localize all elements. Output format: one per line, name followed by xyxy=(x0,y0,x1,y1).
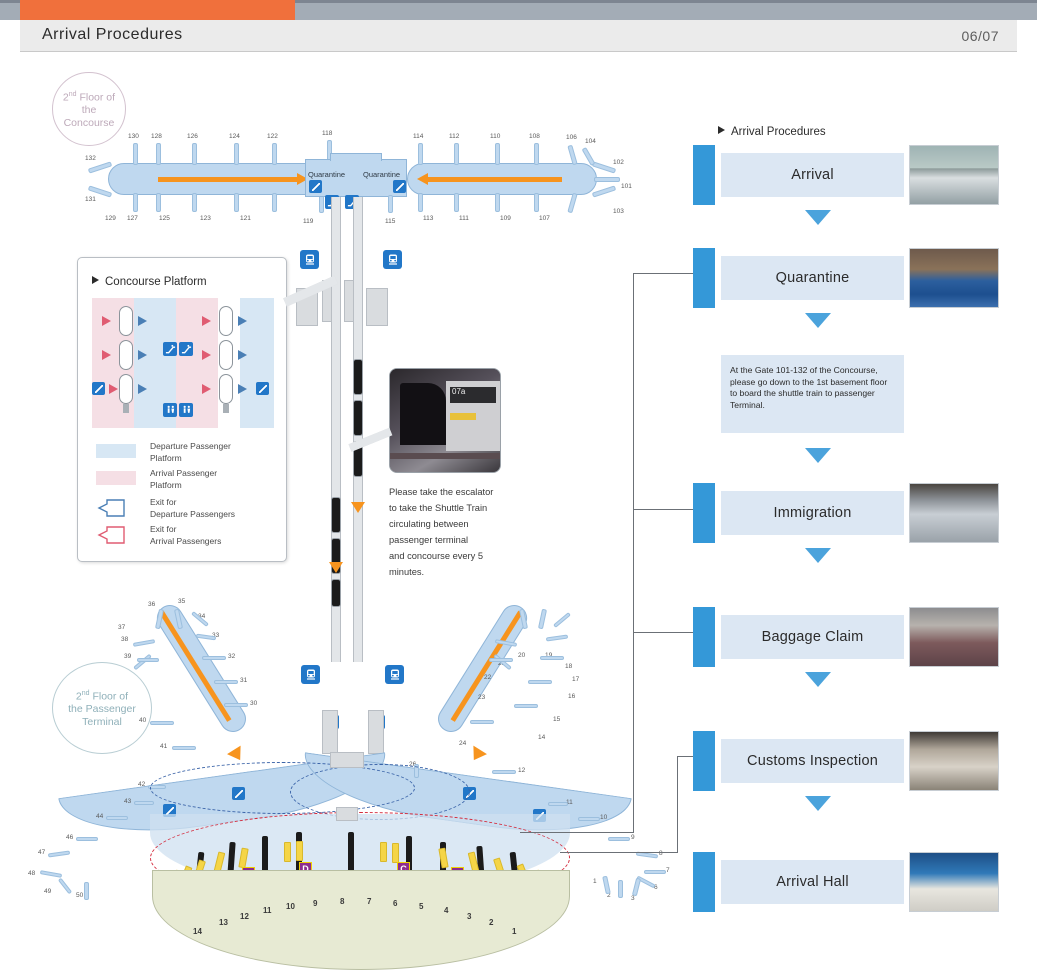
floor-label-concourse: 2nd Floor of the Concourse xyxy=(52,72,126,146)
terminal-gate-49-finger xyxy=(58,878,72,895)
floor-concourse-l3: Concourse xyxy=(64,117,115,129)
terminal-gate-32-finger xyxy=(202,656,226,660)
gate-label-108: 108 xyxy=(529,133,540,140)
concourse-gate-113-finger xyxy=(418,193,423,212)
concourse-gate-101-finger xyxy=(594,177,620,182)
train-icon-bottom-left xyxy=(301,665,320,684)
flow-step-accent-immigration xyxy=(693,483,715,543)
shuttle-train-car-6 xyxy=(331,579,341,607)
terminal-left-route-arrowhead xyxy=(227,746,247,765)
top-bar-orange-segment xyxy=(20,0,295,20)
gate-label-49: 49 xyxy=(44,888,51,895)
concourse-gate-130-finger xyxy=(133,143,138,165)
legend-departure-arrow-l2 xyxy=(138,350,147,360)
shuttle-direction-arrow-2 xyxy=(329,562,343,573)
flow-step-immigration[interactable]: Immigration xyxy=(693,483,999,543)
platform-box-lower-right xyxy=(368,710,384,754)
gate-label-130: 130 xyxy=(128,133,139,140)
terminal-gate-16-finger xyxy=(540,656,564,660)
gate-label-102: 102 xyxy=(613,159,624,166)
legend-arrival-line1: Arrival Passenger xyxy=(150,468,217,478)
gate-label-111: 111 xyxy=(459,215,469,222)
quarantine-label-right: Quarantine xyxy=(363,170,400,179)
gate-label-125: 125 xyxy=(159,215,170,222)
terminal-gate-41-finger xyxy=(172,746,196,750)
concourse-gate-119-finger xyxy=(319,195,324,213)
gate-label-40: 40 xyxy=(139,717,146,724)
flow-triangle-bullet-icon xyxy=(718,126,725,134)
carousel-label-13: 13 xyxy=(219,918,228,927)
gate-label-127: 127 xyxy=(127,215,138,222)
terminal-gate-17-finger xyxy=(546,634,568,641)
terminal-gate-12-finger xyxy=(492,770,516,774)
concourse-gate-124-finger xyxy=(234,143,239,165)
terminal-gate-38-finger xyxy=(133,639,155,647)
legend-escalator-icon-1 xyxy=(163,342,177,356)
legend-exit-dep-line2: Departure Passengers xyxy=(150,509,235,519)
flow-title: Arrival Procedures xyxy=(718,126,826,138)
concourse-gate-128-finger xyxy=(156,143,161,165)
gate-label-104: 104 xyxy=(585,138,596,145)
legend-arrival-arrow-r1 xyxy=(202,316,211,326)
gate-label-47: 47 xyxy=(38,849,45,856)
legend-swatch-departure xyxy=(96,444,136,458)
legend-exit-arr-line2: Arrival Passengers xyxy=(150,536,221,546)
concourse-gate-110-finger xyxy=(495,143,500,165)
carousel-label-11: 11 xyxy=(263,906,271,915)
terminal-gate-40-finger xyxy=(150,721,174,725)
gate-label-15: 15 xyxy=(553,716,560,723)
legend-exit-arr-line1: Exit for xyxy=(150,524,176,534)
flow-step-label-quarantine: Quarantine xyxy=(776,270,850,286)
legend-gate-left-2 xyxy=(119,340,133,370)
terminal-gate-7-finger xyxy=(644,870,666,874)
connector-quarantine-vertical xyxy=(633,273,634,833)
carousel-label-5: 5 xyxy=(419,902,423,911)
flow-step-label-arrival: Arrival xyxy=(791,167,834,183)
concourse-gate-112-finger xyxy=(454,143,459,165)
legend-departure-arrow-r3 xyxy=(238,384,247,394)
legend-restroom-icon-2 xyxy=(179,403,193,417)
floor-label-terminal: 2nd Floor of the Passenger Terminal xyxy=(52,662,152,754)
concourse-quarantine-block-top xyxy=(330,153,382,161)
legend-gate-right-1 xyxy=(219,306,233,336)
flow-step-customs-inspection[interactable]: Customs Inspection xyxy=(693,731,999,791)
flow-step-box-baggage-claim[interactable]: Baggage Claim xyxy=(721,615,904,659)
flow-arrow-2 xyxy=(805,313,831,328)
gate-label-119: 119 xyxy=(303,218,313,225)
baggage-claim-photo-image xyxy=(910,608,998,666)
flow-step-box-arrival-hall[interactable]: Arrival Hall xyxy=(721,860,904,904)
flow-arrow-1 xyxy=(805,210,831,225)
immigration-photo xyxy=(909,483,999,543)
gate-label-1: 1 xyxy=(593,878,597,885)
legend-stub-left xyxy=(123,404,129,413)
baggage-claim-belt xyxy=(152,870,570,970)
flow-arrow-6 xyxy=(805,796,831,811)
train-icon-top-right xyxy=(383,250,402,269)
concourse-gate-121-finger xyxy=(272,193,277,212)
flow-step-accent-arrival-hall xyxy=(693,852,715,912)
concourse-gate-127-finger xyxy=(156,193,161,212)
gate-label-118: 118 xyxy=(322,130,332,137)
legend-escalator-icon-2 xyxy=(179,342,193,356)
gate-label-113: 113 xyxy=(423,215,433,222)
flow-step-label-baggage-claim: Baggage Claim xyxy=(762,629,864,645)
gate-label-7: 7 xyxy=(666,867,670,874)
carousel-label-10: 10 xyxy=(286,902,295,911)
shuttle-note-line6: minutes. xyxy=(389,564,507,580)
concourse-gate-122-finger xyxy=(272,143,277,165)
legend-exit-arrow-arrival-icon xyxy=(96,525,126,545)
gate-label-39: 39 xyxy=(124,653,131,660)
gate-label-9: 9 xyxy=(631,834,635,841)
shuttle-train-car-2 xyxy=(353,400,363,436)
legend-exit-arrow-departure-icon xyxy=(96,498,126,518)
immigration-photo-image xyxy=(910,484,998,542)
flow-step-arrival[interactable]: Arrival xyxy=(693,145,999,205)
flow-step-box-arrival[interactable]: Arrival xyxy=(721,153,904,197)
legend-item-departure-label: Departure Passenger Platform xyxy=(150,441,231,464)
legend-arrival-arrow-l2 xyxy=(102,350,111,360)
gate-label-123: 123 xyxy=(200,215,211,222)
gate-label-35: 35 xyxy=(178,598,185,605)
terminal-gate-19-finger xyxy=(538,609,547,630)
concourse-platform-legend: Concourse Platform xyxy=(77,257,287,562)
terminal-gate-23-finger xyxy=(489,658,513,662)
gate-label-48: 48 xyxy=(28,870,35,877)
arrival-photo xyxy=(909,145,999,205)
gate-label-114: 114 xyxy=(413,133,423,140)
shuttle-note-line2: to take the Shuttle Train xyxy=(389,500,507,516)
concourse-gate-123-finger xyxy=(234,193,239,212)
top-accent-bar xyxy=(0,0,1037,20)
carousel-label-1: 1 xyxy=(512,927,516,936)
gate-label-32: 32 xyxy=(228,653,235,660)
cart-row-9 xyxy=(392,843,399,863)
shuttle-note-line3: circulating between xyxy=(389,516,507,532)
concourse-gate-115-finger xyxy=(388,195,393,213)
terminal-gate-11-finger xyxy=(548,802,568,806)
legend-departure-arrow-l3 xyxy=(138,384,147,394)
legend-gate-left-3 xyxy=(119,374,133,404)
connector-quarantine-stub xyxy=(633,509,693,510)
legend-arrival-arrow-r3 xyxy=(202,384,211,394)
gate-label-41: 41 xyxy=(160,743,167,750)
legend-item-exit-arrival-label: Exit for Arrival Passengers xyxy=(150,524,221,547)
terminal-gate-43-finger xyxy=(134,801,154,805)
legend-departure-arrow-r2 xyxy=(238,350,247,360)
gate-label-44: 44 xyxy=(96,813,103,820)
legend-gate-right-3 xyxy=(219,374,233,404)
gate-label-46: 46 xyxy=(66,834,73,841)
legend-departure-line1: Departure Passenger xyxy=(150,441,231,451)
terminal-gate-15-finger xyxy=(528,680,552,684)
shuttle-train-car-1 xyxy=(353,359,363,395)
flow-step-accent-quarantine xyxy=(693,248,715,308)
gate-label-3: 3 xyxy=(631,895,635,902)
gate-label-101: 101 xyxy=(621,183,632,190)
legend-exit-dep-line1: Exit for xyxy=(150,497,176,507)
concourse-gate-129-finger xyxy=(133,193,138,212)
train-icon-bottom-right xyxy=(385,665,404,684)
terminal-gate-3-finger xyxy=(632,878,641,897)
cart-row-6 xyxy=(284,842,291,862)
legend-title: Concourse Platform xyxy=(92,276,207,288)
gate-label-43: 43 xyxy=(124,798,131,805)
terminal-right-route-arrow xyxy=(451,611,523,722)
connector-customs-horizontal xyxy=(677,756,693,757)
flow-arrow-5 xyxy=(805,672,831,687)
flow-arrow-3 xyxy=(805,448,831,463)
concourse-route-arrow-left xyxy=(158,177,298,182)
concourse-gate-108-finger xyxy=(534,143,539,165)
shuttle-note-text: Please take the escalator to take the Sh… xyxy=(389,484,507,580)
arrival-photo-image xyxy=(910,146,998,204)
gate-label-128: 128 xyxy=(151,133,162,140)
concourse-gate-114-finger xyxy=(418,143,423,165)
gate-label-50: 50 xyxy=(76,892,83,899)
exit-icon-quarantine-right xyxy=(393,180,406,193)
gate-label-17: 17 xyxy=(572,676,579,683)
gate-label-115: 115 xyxy=(385,218,395,225)
shuttle-note-line1: Please take the escalator xyxy=(389,484,507,500)
carousel-label-7: 7 xyxy=(367,897,371,906)
terminal-gate-1-finger xyxy=(602,876,611,895)
shuttle-station-core xyxy=(330,752,364,768)
shuttle-station-lower xyxy=(336,807,358,821)
cart-row-8 xyxy=(380,842,387,862)
page-header: Arrival Procedures 06/07 xyxy=(20,20,1017,52)
flow-step-accent-customs-inspection xyxy=(693,731,715,791)
flow-step-accent-baggage-claim xyxy=(693,607,715,667)
legend-arrival-arrow-l1 xyxy=(102,316,111,326)
gate-label-131: 131 xyxy=(85,196,96,203)
shuttle-note-line4: passenger terminal xyxy=(389,532,507,548)
floor-terminal-l3: Terminal xyxy=(82,716,122,728)
terminal-gate-14-finger xyxy=(514,704,538,708)
legend-gate-left-1 xyxy=(119,306,133,336)
legend-departure-arrow-r1 xyxy=(238,316,247,326)
flow-step-box-immigration[interactable]: Immigration xyxy=(721,491,904,535)
gate-label-103: 103 xyxy=(613,208,624,215)
train-icon-top-left xyxy=(300,250,319,269)
connector-baggage-stub xyxy=(520,832,633,833)
quarantine-photo-image xyxy=(910,249,998,307)
gate-label-38: 38 xyxy=(121,636,128,643)
quarantine-label-left: Quarantine xyxy=(308,170,345,179)
flow-step-accent-arrival xyxy=(693,145,715,205)
terminal-gate-46-finger xyxy=(76,837,98,841)
concourse-gate-126-finger xyxy=(192,143,197,165)
concourse-gate-109-finger xyxy=(495,193,500,212)
flow-step-label-customs-inspection: Customs Inspection xyxy=(747,753,878,769)
shuttle-train-car-4 xyxy=(331,497,341,533)
floor-terminal-l1: Floor of xyxy=(92,690,128,702)
floor-concourse-sup: nd xyxy=(69,91,77,98)
flow-step-box-customs-inspection[interactable]: Customs Inspection xyxy=(721,739,904,783)
exit-icon-quarantine-left xyxy=(309,180,322,193)
flow-step-baggage-claim[interactable]: Baggage Claim xyxy=(693,607,999,667)
carousel-label-9: 9 xyxy=(313,899,317,908)
terminal-gate-24-finger xyxy=(470,720,494,724)
legend-exit-icon-left xyxy=(92,382,105,395)
gate-label-121: 121 xyxy=(240,215,251,222)
floor-terminal-sup: nd xyxy=(82,690,90,697)
legend-item-exit-departure-label: Exit for Departure Passengers xyxy=(150,497,235,520)
terminal-gate-18-finger xyxy=(553,612,571,628)
legend-departure-line2: Platform xyxy=(150,453,182,463)
terminal-gate-47-finger xyxy=(48,850,70,857)
terminal-left-route-arrow xyxy=(159,611,231,722)
legend-swatch-arrival xyxy=(96,471,136,485)
carousel-label-6: 6 xyxy=(393,899,397,908)
flow-step-label-immigration: Immigration xyxy=(774,505,852,521)
legend-item-arrival-label: Arrival Passenger Platform xyxy=(150,468,217,491)
page-number: 06/07 xyxy=(961,28,999,44)
carousel-label-8: 8 xyxy=(340,897,344,906)
shuttle-train-photo: 07a xyxy=(389,368,501,473)
flow-note-box: At the Gate 101-132 of the Concourse, pl… xyxy=(721,355,904,433)
carousel-label-12: 12 xyxy=(240,912,249,921)
carousel-label-4: 4 xyxy=(444,906,448,915)
gate-label-122: 122 xyxy=(267,133,278,140)
gate-label-18: 18 xyxy=(565,663,572,670)
connector-quarantine-horizontal-top xyxy=(633,273,693,274)
legend-restroom-icon-1 xyxy=(163,403,177,417)
gate-label-37: 37 xyxy=(118,624,125,631)
concourse-gate-111-finger xyxy=(454,193,459,212)
carousel-label-14: 14 xyxy=(193,927,202,936)
gate-label-126: 126 xyxy=(187,133,198,140)
terminal-gate-50-finger xyxy=(84,882,89,900)
terminal-gate-31-finger xyxy=(214,680,238,684)
legend-arrival-arrow-r2 xyxy=(202,350,211,360)
baggage-claim-photo xyxy=(909,607,999,667)
flow-step-quarantine[interactable]: Quarantine xyxy=(693,248,999,308)
concourse-gate-103-finger xyxy=(592,185,616,197)
gate-label-22: 22 xyxy=(484,674,491,681)
customs-inspection-photo xyxy=(909,731,999,791)
connector-immigration-stub xyxy=(633,632,693,633)
flow-step-label-arrival-hall: Arrival Hall xyxy=(776,874,849,890)
gate-label-109: 109 xyxy=(500,215,511,222)
platform-box-outer-right xyxy=(366,288,388,326)
shuttle-train-image: 07a xyxy=(390,369,500,472)
gate-label-129: 129 xyxy=(105,215,116,222)
gate-label-106: 106 xyxy=(566,134,577,141)
quarantine-photo xyxy=(909,248,999,308)
gate-label-12: 12 xyxy=(518,767,525,774)
terminal-gate-30-finger xyxy=(224,703,248,707)
flow-step-box-quarantine[interactable]: Quarantine xyxy=(721,256,904,300)
gate-label-23: 23 xyxy=(478,694,485,701)
gate-label-24: 24 xyxy=(459,740,466,747)
gate-label-30: 30 xyxy=(250,700,257,707)
carousel-label-2: 2 xyxy=(489,918,493,927)
terminal-gate-39-finger xyxy=(137,658,159,662)
shuttle-note-line5: and concourse every 5 xyxy=(389,548,507,564)
legend-title-text: Concourse Platform xyxy=(105,276,207,288)
gate-label-110: 110 xyxy=(490,133,500,140)
concourse-gate-105-finger xyxy=(567,193,577,214)
triangle-bullet-icon xyxy=(92,276,99,284)
customs-inspection-photo-image xyxy=(910,732,998,790)
legend-gate-right-2 xyxy=(219,340,233,370)
floor-concourse-l2: the xyxy=(82,104,97,116)
terminal-gate-9-finger xyxy=(608,837,630,841)
floor-terminal-l2: the Passenger xyxy=(68,703,136,715)
connector-customs-vertical xyxy=(677,756,678,852)
page-title: Arrival Procedures xyxy=(42,26,183,44)
legend-arrival-arrow-l3 xyxy=(109,384,118,394)
terminal-gate-48-finger xyxy=(40,870,62,878)
gate-label-20: 20 xyxy=(518,652,525,659)
legend-stub-right xyxy=(223,404,229,413)
gate-label-10: 10 xyxy=(600,814,607,821)
gate-label-16: 16 xyxy=(568,693,575,700)
gate-label-42: 42 xyxy=(138,781,145,788)
legend-exit-icon-right xyxy=(256,382,269,395)
flow-title-text: Arrival Procedures xyxy=(731,126,826,138)
concourse-route-arrow-right xyxy=(427,177,562,182)
connector-customs-to-map xyxy=(560,852,678,853)
terminal-gate-37-finger xyxy=(133,654,152,671)
concourse-gate-125-finger xyxy=(192,193,197,212)
terminal-gate-10-finger xyxy=(578,817,600,821)
legend-departure-arrow-l1 xyxy=(138,316,147,326)
terminal-gate-44-finger xyxy=(106,816,128,820)
gate-label-36: 36 xyxy=(148,601,155,608)
floor-concourse-l1: Floor of xyxy=(79,91,115,103)
gate-label-31: 31 xyxy=(240,677,247,684)
cart-row-7 xyxy=(296,841,303,861)
gate-label-132: 132 xyxy=(85,155,96,162)
gate-label-14: 14 xyxy=(538,734,545,741)
train-car-number: 07a xyxy=(452,387,465,396)
flow-step-arrival-hall[interactable]: Arrival Hall xyxy=(693,852,999,912)
concourse-gate-107-finger xyxy=(534,193,539,212)
terminal-gate-2-finger xyxy=(618,880,623,898)
gate-label-107: 107 xyxy=(539,215,550,222)
flow-arrow-4 xyxy=(805,548,831,563)
legend-arrival-line2: Platform xyxy=(150,480,182,490)
gate-label-124: 124 xyxy=(229,133,240,140)
arrival-hall-photo xyxy=(909,852,999,912)
carousel-label-3: 3 xyxy=(467,912,471,921)
arrival-hall-photo-image xyxy=(910,853,998,911)
gate-label-112: 112 xyxy=(449,133,459,140)
shuttle-direction-arrow-1 xyxy=(351,502,365,513)
platform-box-lower-left xyxy=(322,710,338,754)
terminal-right-route-arrowhead xyxy=(467,746,487,765)
